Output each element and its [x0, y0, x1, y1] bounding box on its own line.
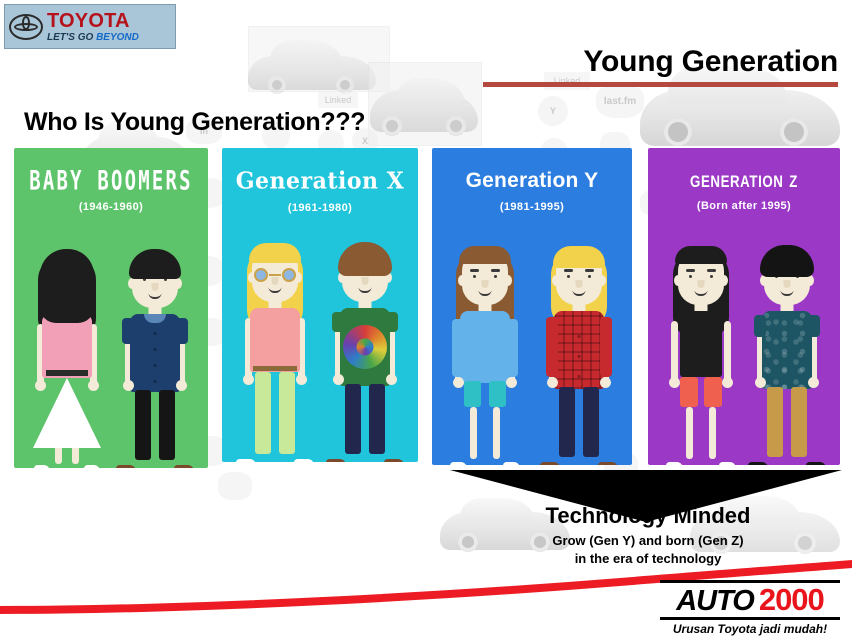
social-icon-lastfm: last.fm: [596, 84, 644, 118]
person-female-baby-boomers: [28, 250, 106, 468]
generation-card-generation-y[interactable]: Generation Y (1981-1995): [432, 148, 632, 465]
card-years-generation-z: (Born after 1995): [648, 200, 840, 212]
people-generation-y: [432, 240, 632, 465]
card-years-generation-x: (1961-1980): [222, 202, 418, 214]
person-female-generation-x: [236, 244, 314, 462]
toyota-tagline-part2: BEYOND: [96, 32, 139, 43]
card-years-baby-boomers: (1946-1960): [14, 201, 208, 213]
social-icon-generic-9: [218, 472, 252, 500]
page-title: Young Generation: [483, 46, 838, 78]
conclusion-line-2: in the era of technology: [452, 550, 844, 568]
car-photo-frame-mid: [368, 62, 482, 146]
card-title-generation-y: Generation Y: [432, 170, 632, 192]
car-photo-mpv: [370, 78, 478, 138]
people-generation-x: [222, 237, 418, 462]
title-underline-rule: [483, 82, 838, 87]
card-title-generation-z: Generation Z: [653, 168, 835, 193]
person-male-baby-boomers: [116, 250, 194, 468]
social-icon-yahoo: Y: [538, 96, 568, 126]
person-male-generation-z: [748, 247, 826, 465]
floral-pattern: [762, 311, 812, 389]
title-block: Young Generation: [483, 46, 838, 87]
people-generation-z: [648, 240, 840, 465]
glasses-icon: [254, 268, 296, 282]
generation-cards-row: BABY BOOMERS (1946-1960): [0, 148, 852, 468]
toyota-tagline-part1: LET'S GO: [47, 32, 96, 43]
auto2000-number-text: 2000: [759, 584, 824, 615]
generation-card-generation-z[interactable]: Generation Z (Born after 1995): [648, 148, 840, 465]
toyota-wordmark: TOYOTA: [47, 11, 139, 31]
auto2000-tagline: Urusan Toyota jadi mudah!: [660, 622, 840, 636]
card-title-generation-x: Generation X: [222, 169, 418, 193]
conclusion-title: Technology Minded: [452, 503, 844, 529]
generation-card-baby-boomers[interactable]: BABY BOOMERS (1946-1960): [14, 148, 208, 468]
auto2000-logo: AUTO 2000 Urusan Toyota jadi mudah!: [660, 580, 840, 636]
toyota-emblem-icon: [9, 14, 43, 40]
car-photo-top-center: [248, 40, 376, 96]
people-baby-boomers: [14, 243, 208, 468]
conclusion-block: Technology Minded Grow (Gen Y) and born …: [452, 503, 844, 567]
slide-canvas: in X Linked Y Y Linked last.fm TOYOTA LE…: [0, 0, 852, 640]
auto2000-auto-text: AUTO: [676, 587, 754, 616]
card-title-baby-boomers: BABY BOOMERS: [24, 167, 199, 195]
social-icon-linkedin-label: Linked: [318, 92, 358, 108]
auto2000-bottom-rule: [660, 617, 840, 620]
generation-card-generation-x[interactable]: Generation X (1961-1980): [222, 148, 418, 462]
person-female-generation-y: [446, 247, 524, 465]
conclusion-line-1: Grow (Gen Y) and born (Gen Z): [452, 532, 844, 550]
person-female-generation-z: [662, 247, 740, 465]
car-photo-frame-top: [248, 26, 390, 92]
page-subtitle: Who Is Young Generation???: [24, 108, 365, 137]
toyota-logo: TOYOTA LET'S GO BEYOND: [4, 4, 176, 49]
person-male-generation-y: [540, 247, 618, 465]
person-male-generation-x: [326, 244, 404, 462]
card-years-generation-y: (1981-1995): [432, 201, 632, 213]
tie-dye-pattern: [343, 325, 387, 369]
